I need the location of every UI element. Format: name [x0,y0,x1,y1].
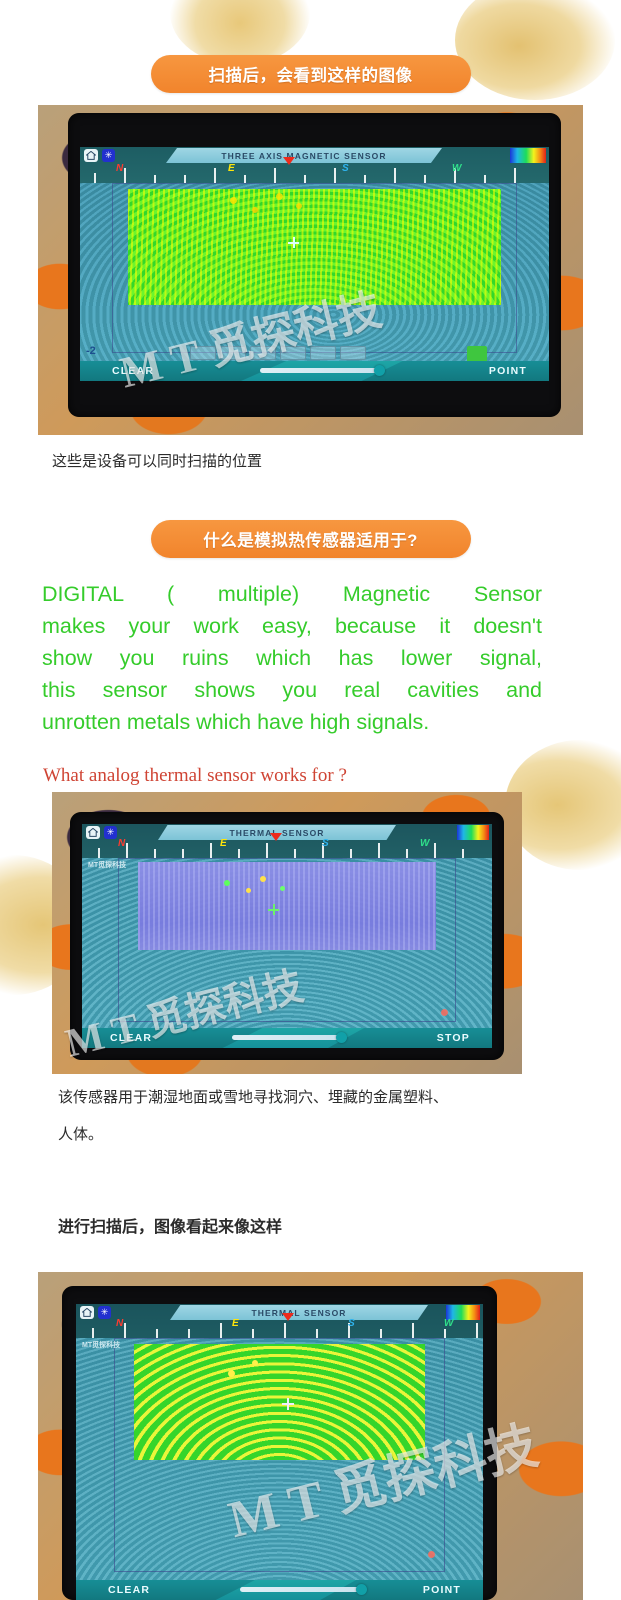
caption-section-1: 这些是设备可以同时扫描的位置 [52,447,262,477]
bluetooth-icon[interactable]: ✳ [104,826,117,839]
scan-frame [114,1338,445,1572]
banner-section-2: 什么是模拟热传感器适用于? [151,520,471,558]
decor-blob-top-right [455,0,615,100]
target-crosshair-icon [288,237,299,248]
mini-button[interactable] [280,346,306,360]
clear-button[interactable] [76,1580,255,1600]
compass-label-s: S [322,838,329,849]
green-paragraph-line-3: show you ruins which has lower signal, [42,642,542,674]
stop-button-label: STOP [437,1032,470,1044]
home-icon[interactable] [80,1306,94,1319]
compass-strip: N E S W [80,165,549,183]
bluetooth-icon[interactable]: ✳ [98,1306,111,1319]
clear-button-label: CLEAR [108,1584,150,1596]
heading-cursor-icon [283,157,295,165]
decor-blob-mid-right [505,740,621,870]
compass-label-e: E [228,163,235,174]
screen-title: THREE AXIS MAGNETIC SENSOR [221,151,386,161]
banner-section-1-label: 扫描后，会看到这样的图像 [209,62,413,86]
screen-topbar: ✳ THERMAL SENSOR [82,824,492,841]
screen-bottombar: CLEAR POINT [76,1580,483,1600]
heatmap-canvas: MT觅探科技 [76,1338,483,1580]
green-paragraph-line-1: DIGITAL ( multiple) Magnetic Sensor [42,578,542,610]
screen-thermal-scan: ✳ THERMAL SENSOR [76,1304,483,1600]
screen-title-plate: THREE AXIS MAGNETIC SENSOR [166,148,442,163]
compass-label-n: N [116,163,123,174]
compass-label-w: W [452,163,461,174]
mini-button[interactable] [190,346,216,360]
compass-label-e: E [220,838,227,849]
screen-bottombar: CLEAR STOP [82,1028,492,1048]
screen-magnetic: ✳ THREE AXIS MAGNETIC SENSOR [80,147,549,381]
mini-button-row[interactable] [190,346,366,360]
caption-section-2-line-1: 该传感器用于潮湿地面或雪地寻找洞穴、埋藏的金属塑料、 [58,1083,448,1113]
device-photo-thermal-idle: ✳ THERMAL SENSOR [52,792,522,1074]
bluetooth-icon[interactable]: ✳ [102,149,115,162]
point-button-label: POINT [489,365,527,377]
heatmap-canvas: MT觅探科技 [82,858,492,1028]
screen-title-plate: THERMAL SENSOR [170,1305,428,1320]
point-button-label: POINT [423,1584,461,1596]
mini-button[interactable] [340,346,366,360]
screen-bottombar: CLEAR POINT [80,361,549,381]
clear-button[interactable] [80,361,286,381]
hot-spot-marker [428,1551,435,1558]
screen-thermal-idle: ✳ THERMAL SENSOR [82,824,492,1048]
sensitivity-slider[interactable] [240,1587,362,1592]
target-crosshair-icon [268,904,279,915]
green-paragraph-line-2: makes your work easy, because it doesn't [42,610,542,642]
clear-button-label: CLEAR [110,1032,152,1044]
device-bezel: ✳ THERMAL SENSOR [62,1286,497,1600]
heading-cursor-icon [270,833,282,841]
compass-label-n: N [118,838,125,849]
heading-section-3: 进行扫描后，图像看起来像这样 [58,1213,282,1243]
scan-frame [112,183,517,353]
compass-label-n: N [116,1318,123,1329]
heatmap-canvas: -2 [80,183,549,361]
sensitivity-slider[interactable] [232,1035,342,1040]
compass-label-s: S [348,1318,355,1329]
depth-value: -2 [86,345,96,357]
compass-strip: N E S W [76,1321,483,1339]
green-paragraph-line-5: unrotten metals which have high signals. [42,706,542,738]
target-crosshair-icon [282,1398,294,1410]
device-photo-thermal-scan: ✳ THERMAL SENSOR [38,1272,583,1600]
red-heading: What analog thermal sensor works for ? [43,765,347,787]
scan-frame [118,858,456,1022]
compass-label-w: W [444,1318,453,1329]
sensitivity-slider-knob[interactable] [356,1584,367,1595]
heading-cursor-icon [282,1313,294,1321]
screen-topbar: ✳ THREE AXIS MAGNETIC SENSOR [80,147,549,164]
hot-spot-marker [441,1009,448,1016]
sensitivity-slider-knob[interactable] [336,1032,347,1043]
sensitivity-slider[interactable] [260,368,380,373]
device-bezel: ✳ THERMAL SENSOR [70,812,504,1060]
home-icon[interactable] [86,826,100,839]
banner-section-1: 扫描后，会看到这样的图像 [151,55,471,93]
compass-label-e: E [232,1318,239,1329]
screen-title: THERMAL SENSOR [251,1308,346,1318]
caption-section-2-line-2: 人体。 [58,1120,103,1150]
banner-section-2-label: 什么是模拟热传感器适用于? [203,527,418,551]
home-icon[interactable] [84,149,98,162]
color-spectrum-legend [457,825,489,840]
sensitivity-slider-knob[interactable] [374,365,385,376]
product-detail-page: 扫描后，会看到这样的图像 ✳ THREE AXIS MAGNETIC SENSO… [0,0,621,1600]
device-bezel: ✳ THREE AXIS MAGNETIC SENSOR [68,113,561,417]
mini-button[interactable] [250,346,276,360]
device-photo-magnetic: ✳ THREE AXIS MAGNETIC SENSOR [38,105,583,435]
compass-label-w: W [420,838,429,849]
mini-button[interactable] [220,346,246,360]
green-paragraph-line-4: this sensor shows you real cavities and [42,674,542,706]
mini-button[interactable] [310,346,336,360]
clear-button-label: CLEAR [112,365,154,377]
compass-strip: N E S W [82,841,492,859]
compass-label-s: S [342,163,349,174]
screen-topbar: ✳ THERMAL SENSOR [76,1304,483,1321]
color-spectrum-legend [510,148,546,163]
